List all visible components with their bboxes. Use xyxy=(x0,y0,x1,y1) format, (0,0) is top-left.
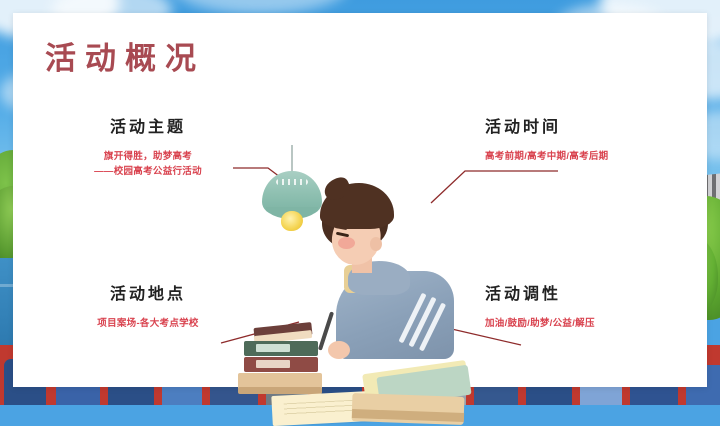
slide-card: 活动概况 xyxy=(13,13,707,387)
section-tone-heading: 活动调性 xyxy=(485,285,695,304)
section-topic-line1: 旗开得胜，助梦高考 xyxy=(58,150,238,165)
boy-cheek-blush xyxy=(338,237,355,249)
section-place-body: 项目案场-各大考点学校 xyxy=(58,317,238,332)
book-spine-title xyxy=(256,360,290,368)
section-place: 活动地点 项目案场-各大考点学校 xyxy=(58,285,238,332)
light-bulb-icon xyxy=(281,211,303,231)
section-tone: 活动调性 加油/鼓励/助梦/公益/解压 xyxy=(485,285,695,332)
page-title: 活动概况 xyxy=(45,33,205,78)
book-stack-pages xyxy=(238,387,322,394)
section-topic-heading: 活动主题 xyxy=(58,118,238,137)
book-spine-title xyxy=(256,344,290,352)
section-time-line1: 高考前期/高考中期/高考后期 xyxy=(485,150,695,165)
lamp-vent-dots xyxy=(276,179,308,185)
section-time-heading: 活动时间 xyxy=(485,118,695,137)
section-place-line1: 项目案场-各大考点学校 xyxy=(58,317,238,332)
section-place-heading: 活动地点 xyxy=(58,285,238,304)
section-tone-body: 加油/鼓励/助梦/公益/解压 xyxy=(485,317,695,332)
student-studying-illustration xyxy=(228,145,493,370)
section-tone-line1: 加油/鼓励/助梦/公益/解压 xyxy=(485,317,695,332)
section-topic-body: 旗开得胜，助梦高考 ——校园高考公益行活动 xyxy=(58,150,238,179)
boy-hand xyxy=(328,341,350,359)
boy-ear xyxy=(370,237,382,251)
section-topic-line2: ——校园高考公益行活动 xyxy=(58,165,238,180)
lamp-cord xyxy=(291,145,293,173)
section-topic: 活动主题 旗开得胜，助梦高考 ——校园高考公益行活动 xyxy=(58,118,238,180)
section-time-body: 高考前期/高考中期/高考后期 xyxy=(485,150,695,165)
section-time: 活动时间 高考前期/高考中期/高考后期 xyxy=(485,118,695,165)
